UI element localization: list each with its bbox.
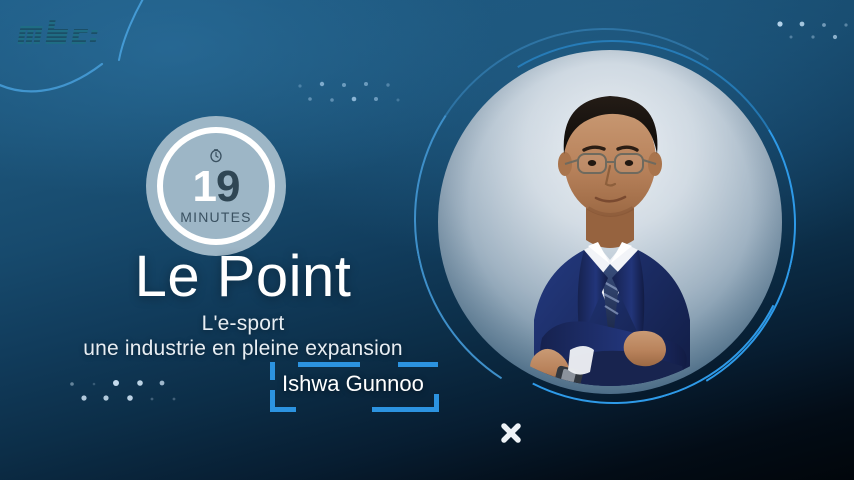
swoosh-arc-left-icon	[0, 50, 120, 110]
dot-grid-top	[296, 68, 406, 119]
badge-digit-first: 1	[193, 162, 216, 211]
dot-grid-bottom-left	[62, 368, 182, 419]
frame-bottom-left-horizontal	[270, 407, 296, 412]
broadcast-graphic-stage: mbc	[0, 0, 854, 480]
guest-name-lower-third: Ishwa Gunnoo	[262, 360, 462, 414]
mbc-logo: mbc	[14, 18, 98, 52]
frame-top-left-vertical	[270, 362, 275, 380]
guest-name-text: Ishwa Gunnoo	[282, 371, 424, 397]
guest-portrait-circle	[430, 42, 790, 402]
subtitle-line-2: une industrie en pleine expansion	[48, 337, 438, 361]
badge-digit-second: 9	[216, 162, 239, 211]
badge-unit-label: MINUTES	[180, 209, 251, 225]
frame-bottom-right-horizontal	[412, 407, 439, 412]
frame-top-segment-2	[398, 362, 438, 367]
frame-top-segment-1	[298, 362, 360, 367]
x-mark-icon	[498, 420, 524, 446]
duration-badge: 19 MINUTES	[146, 116, 286, 256]
page-title: Le Point	[48, 248, 438, 306]
subtitle-line-1: L'e-sport	[48, 312, 438, 336]
badge-duration-number: 19	[193, 166, 240, 208]
title-block: Le Point L'e-sport une industrie en plei…	[48, 248, 438, 361]
